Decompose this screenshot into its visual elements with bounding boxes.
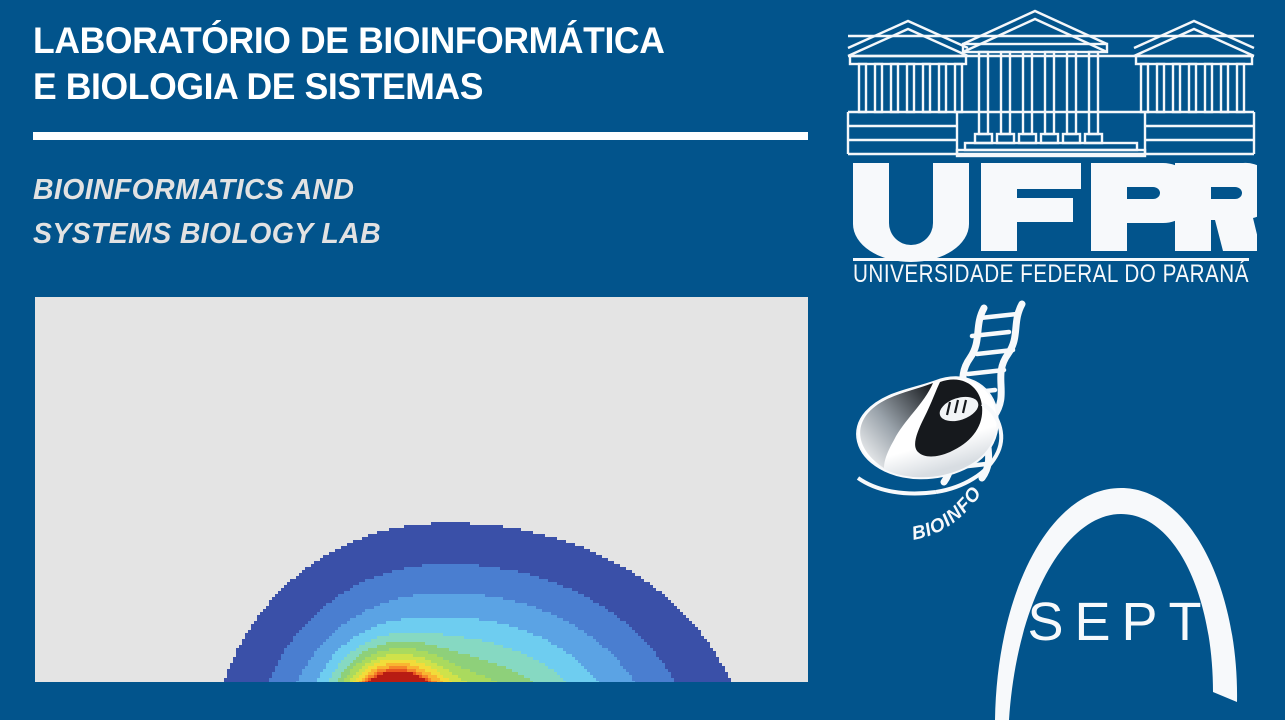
ufpr-logo: UNIVERSIDADE FEDERAL DO PARANÁ [845, 8, 1257, 283]
page-subtitle-line-1: BIOINFORMATICS AND [33, 168, 807, 212]
page-title: LABORATÓRIO DE BIOINFORMÁTICA E BIOLOGIA… [33, 18, 823, 110]
title-divider [33, 132, 808, 140]
ufpr-tagline: UNIVERSIDADE FEDERAL DO PARANÁ [853, 259, 1249, 283]
sept-logo: SEPT [975, 470, 1265, 720]
contour-plot-panel [35, 297, 808, 682]
page-title-line-2: E BIOLOGIA DE SISTEMAS [33, 64, 791, 110]
sept-logo-svg: SEPT [975, 470, 1265, 720]
ufpr-wordmark [853, 163, 1257, 262]
poster-canvas: LABORATÓRIO DE BIOINFORMÁTICA E BIOLOGIA… [0, 0, 1285, 720]
ufpr-logo-svg: UNIVERSIDADE FEDERAL DO PARANÁ [845, 8, 1257, 283]
page-title-line-1: LABORATÓRIO DE BIOINFORMÁTICA [33, 18, 791, 64]
contour-plot [35, 297, 808, 682]
sept-wordmark: SEPT [1027, 592, 1212, 652]
neoclassical-building-icon [848, 11, 1254, 156]
page-subtitle-line-2: SYSTEMS BIOLOGY LAB [33, 212, 807, 256]
page-subtitle: BIOINFORMATICS AND SYSTEMS BIOLOGY LAB [33, 168, 823, 256]
